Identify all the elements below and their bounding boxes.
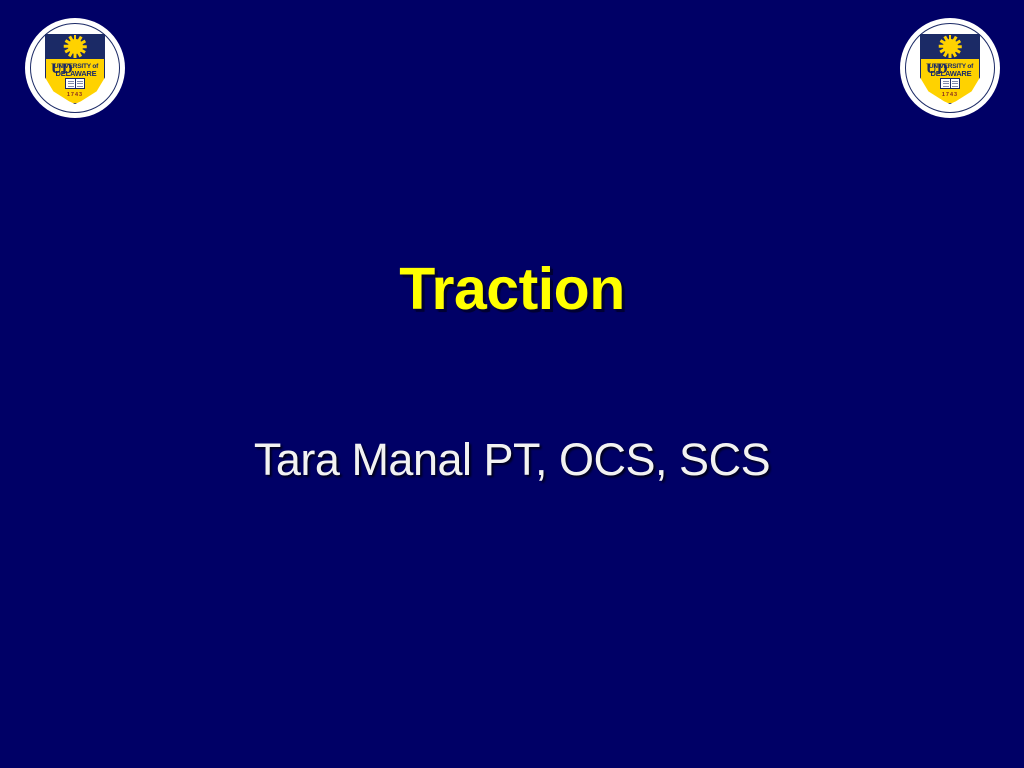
slide-title: Traction xyxy=(0,255,1024,323)
ud-seal-left-logo: UD UNIVERSITY of DELAWARE 1743 xyxy=(25,18,125,118)
sun-icon xyxy=(68,39,83,54)
seal-wordmark: UNIVERSITY of DELAWARE xyxy=(49,64,103,79)
ud-seal-right-logo: UD UNIVERSITY of DELAWARE 1743 xyxy=(900,18,1000,118)
slide-canvas: UD UNIVERSITY of DELAWARE 1743 UD UNIVER… xyxy=(0,0,1024,768)
slide-subtitle-author: Tara Manal PT, OCS, SCS xyxy=(0,434,1024,486)
book-text-lines xyxy=(65,78,85,89)
seal-wordmark: UNIVERSITY of DELAWARE xyxy=(924,64,978,79)
sun-icon xyxy=(943,39,958,54)
book-text-lines xyxy=(940,78,960,89)
